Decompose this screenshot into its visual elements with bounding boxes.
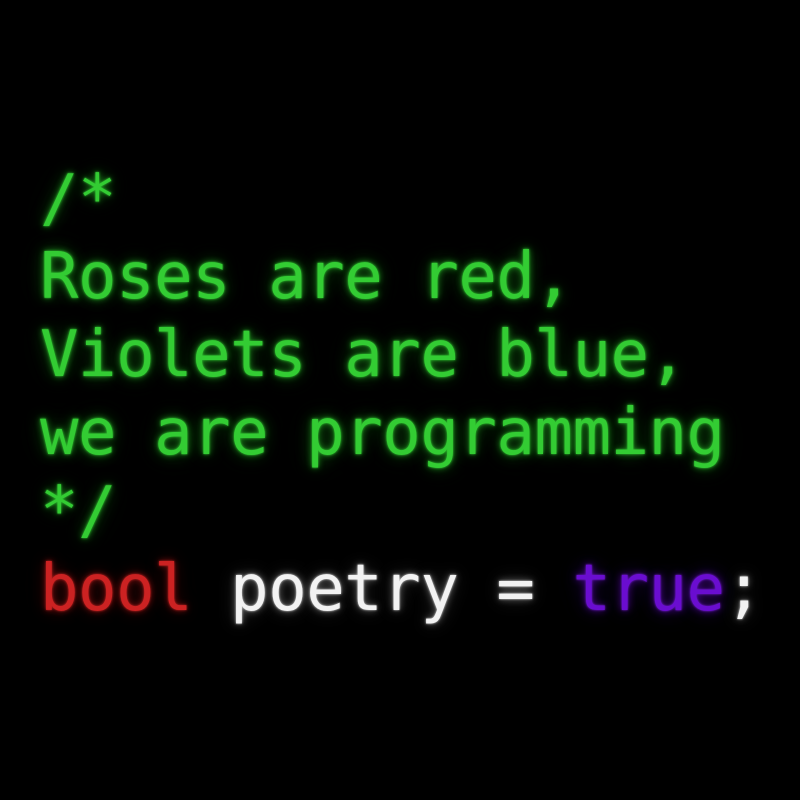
token-comment: we are programming	[40, 396, 725, 470]
code-line-comment-close: */	[40, 472, 800, 550]
token-operator: =	[496, 552, 534, 626]
code-line-comment-line-programming: we are programming	[40, 394, 800, 472]
token-comment: */	[40, 474, 116, 548]
token-comment: /*	[40, 162, 116, 236]
token-comment: Roses are red,	[40, 240, 572, 314]
token-comment: Violets are blue,	[40, 318, 687, 392]
code-line-declaration-statement: bool poetry = true;	[40, 550, 800, 628]
token-keyword: bool	[40, 552, 192, 626]
token-literal: true	[572, 552, 724, 626]
token-plain	[192, 552, 230, 626]
code-line-comment-open: /*	[40, 160, 800, 238]
code-line-comment-line-violets: Violets are blue,	[40, 316, 800, 394]
token-punct: ;	[725, 552, 763, 626]
code-line-comment-line-roses: Roses are red,	[40, 238, 800, 316]
token-plain	[534, 552, 572, 626]
token-plain: poetry	[230, 552, 458, 626]
token-plain	[458, 552, 496, 626]
code-block: /*Roses are red,Violets are blue,we are …	[40, 160, 800, 628]
code-poetry-image: /*Roses are red,Violets are blue,we are …	[0, 0, 800, 800]
